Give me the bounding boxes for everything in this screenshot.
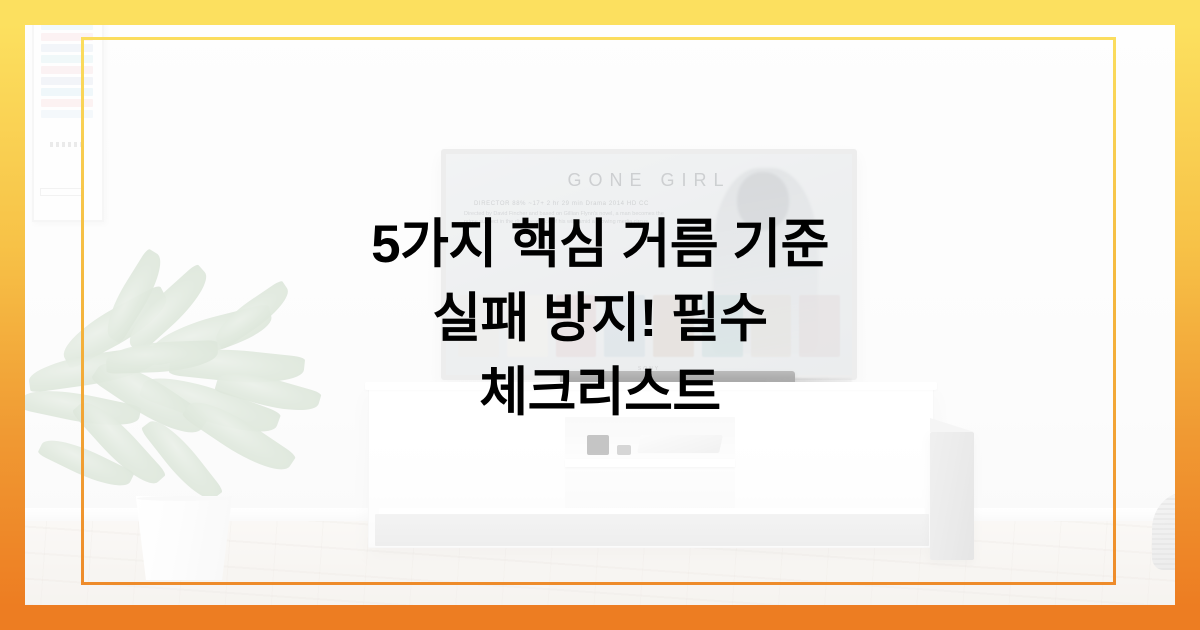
plant-pot (128, 496, 240, 580)
artwork-stripe-1 (41, 11, 93, 19)
poster-2 (507, 295, 548, 357)
artwork-stripe-5 (41, 55, 93, 63)
artwork-stripe-4 (41, 44, 93, 52)
poster-6 (702, 295, 743, 357)
artwork-stripe-3 (41, 33, 93, 41)
background-photo: GONE GIRL DIRECTOR 88% ~17+ 2 hr 29 min … (0, 0, 1200, 630)
television: GONE GIRL DIRECTOR 88% ~17+ 2 hr 29 min … (441, 149, 857, 380)
poster-canvas: GONE GIRL DIRECTOR 88% ~17+ 2 hr 29 min … (0, 0, 1200, 630)
artwork-stripe-10 (41, 110, 93, 118)
tv-movie-synopsis: Directed by David Fincher and based on G… (464, 210, 679, 226)
tv-movie-meta: DIRECTOR 88% ~17+ 2 hr 29 min Drama 2014… (474, 201, 649, 207)
poster-1 (458, 295, 499, 357)
tv-stand-shelf (565, 459, 735, 467)
poster-8 (799, 295, 840, 357)
artwork-stripe-7 (41, 77, 93, 85)
potted-plant (20, 268, 320, 568)
framed-artwork (32, 0, 104, 222)
poster-3 (556, 295, 597, 357)
tv-stand-top (365, 382, 937, 390)
tower-speaker (930, 432, 974, 560)
tv-stand-plinth (375, 514, 929, 546)
artwork-stripe-2 (41, 22, 93, 30)
artwork-stripe-8 (41, 88, 93, 96)
tv-screen: GONE GIRL DIRECTOR 88% ~17+ 2 hr 29 min … (446, 154, 852, 375)
poster-5 (653, 295, 694, 357)
artwork-stripe-6 (41, 66, 93, 74)
poster-7 (751, 295, 792, 357)
media-device (587, 435, 609, 455)
poster-4 (604, 295, 645, 357)
artwork-signature (50, 142, 86, 147)
tv-poster-row (446, 295, 852, 357)
artwork-plate (40, 188, 84, 196)
game-console (637, 435, 723, 453)
artwork-stripes (41, 0, 93, 132)
artwork-stripe-9 (41, 99, 93, 107)
artwork-stripe-0 (41, 0, 93, 8)
media-device-small (617, 445, 631, 455)
tv-stand (368, 388, 934, 548)
tv-stand-niche (565, 417, 735, 513)
